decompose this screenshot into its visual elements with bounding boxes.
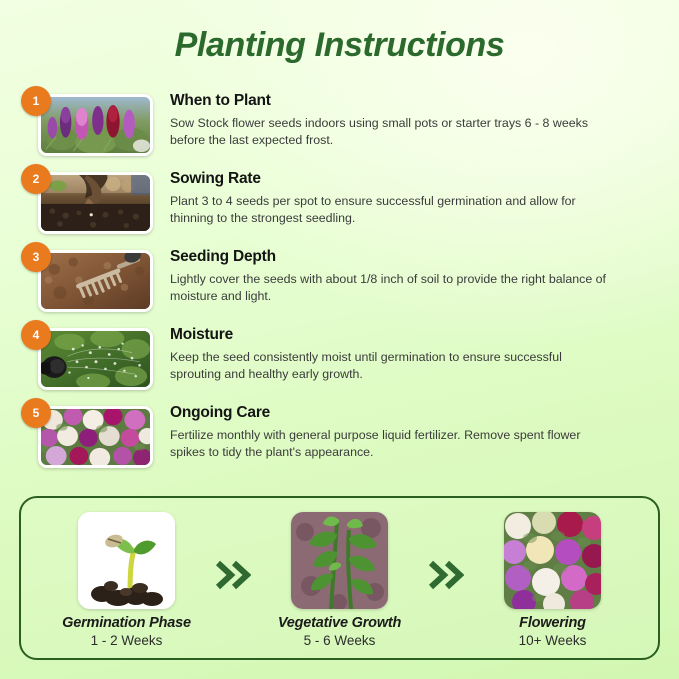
double-chevron-right-icon xyxy=(210,512,256,590)
double-chevron-right-icon xyxy=(423,512,469,590)
growth-timeline-box: Germination Phase 1 - 2 Weeks xyxy=(19,496,660,660)
step-number-badge: 1 xyxy=(21,86,51,116)
timeline-phase-germination: Germination Phase 1 - 2 Weeks xyxy=(43,512,210,648)
colorful-stock-flowers-photo xyxy=(504,512,601,609)
step-thumbnail-wrap: 2 xyxy=(38,172,158,234)
timeline-phase-flowering: Flowering 10+ Weeks xyxy=(469,512,636,648)
step-title: Sowing Rate xyxy=(170,170,610,188)
step-item: 2 xyxy=(0,170,679,248)
step-thumbnail-wrap: 3 xyxy=(38,250,158,312)
step-item: 1 xyxy=(0,92,679,170)
step-item: 5 xyxy=(0,404,679,482)
step-description: Keep the seed consistently moist until g… xyxy=(170,349,610,383)
step-text: Moisture Keep the seed consistently mois… xyxy=(158,326,610,383)
step-number-badge: 3 xyxy=(21,242,51,272)
phase-duration: 5 - 6 Weeks xyxy=(256,633,423,648)
step-number-badge: 4 xyxy=(21,320,51,350)
step-title: Ongoing Care xyxy=(170,404,610,422)
green-foliage-stems-photo xyxy=(291,512,388,609)
phase-duration: 1 - 2 Weeks xyxy=(43,633,210,648)
step-item: 3 xyxy=(0,248,679,326)
timeline-phase-vegetative: Vegetative Growth 5 - 6 Weeks xyxy=(256,512,423,648)
step-text: Seeding Depth Lightly cover the seeds wi… xyxy=(158,248,610,305)
sprinkler-watering-photo xyxy=(38,328,153,390)
steps-list: 1 xyxy=(0,92,679,482)
step-thumbnail-wrap: 1 xyxy=(38,94,158,156)
hand-sowing-seeds-in-soil-photo xyxy=(38,172,153,234)
step-thumbnail-wrap: 4 xyxy=(38,328,158,390)
growth-timeline-row: Germination Phase 1 - 2 Weeks xyxy=(21,498,658,658)
step-description: Fertilize monthly with general purpose l… xyxy=(170,427,610,461)
step-description: Plant 3 to 4 seeds per spot to ensure su… xyxy=(170,193,610,227)
step-title: When to Plant xyxy=(170,92,610,110)
mixed-stock-blooms-photo xyxy=(38,406,153,468)
step-thumbnail-wrap: 5 xyxy=(38,406,158,468)
phase-label: Germination Phase xyxy=(43,615,210,631)
step-item: 4 xyxy=(0,326,679,404)
sprouting-seed-photo xyxy=(78,512,175,609)
step-text: Sowing Rate Plant 3 to 4 seeds per spot … xyxy=(158,170,610,227)
page-title: Planting Instructions xyxy=(0,26,679,65)
step-description: Lightly cover the seeds with about 1/8 i… xyxy=(170,271,610,305)
phase-label: Vegetative Growth xyxy=(256,615,423,631)
phase-label: Flowering xyxy=(469,615,636,631)
infographic-page: Planting Instructions 1 xyxy=(0,0,679,679)
step-description: Sow Stock flower seeds indoors using sma… xyxy=(170,115,610,149)
purple-stock-flowers-photo xyxy=(38,94,153,156)
step-text: When to Plant Sow Stock flower seeds ind… xyxy=(158,92,610,149)
phase-duration: 10+ Weeks xyxy=(469,633,636,648)
step-title: Seeding Depth xyxy=(170,248,610,266)
step-title: Moisture xyxy=(170,326,610,344)
step-text: Ongoing Care Fertilize monthly with gene… xyxy=(158,404,610,461)
rake-on-soil-photo xyxy=(38,250,153,312)
step-number-badge: 5 xyxy=(21,398,51,428)
step-number-badge: 2 xyxy=(21,164,51,194)
